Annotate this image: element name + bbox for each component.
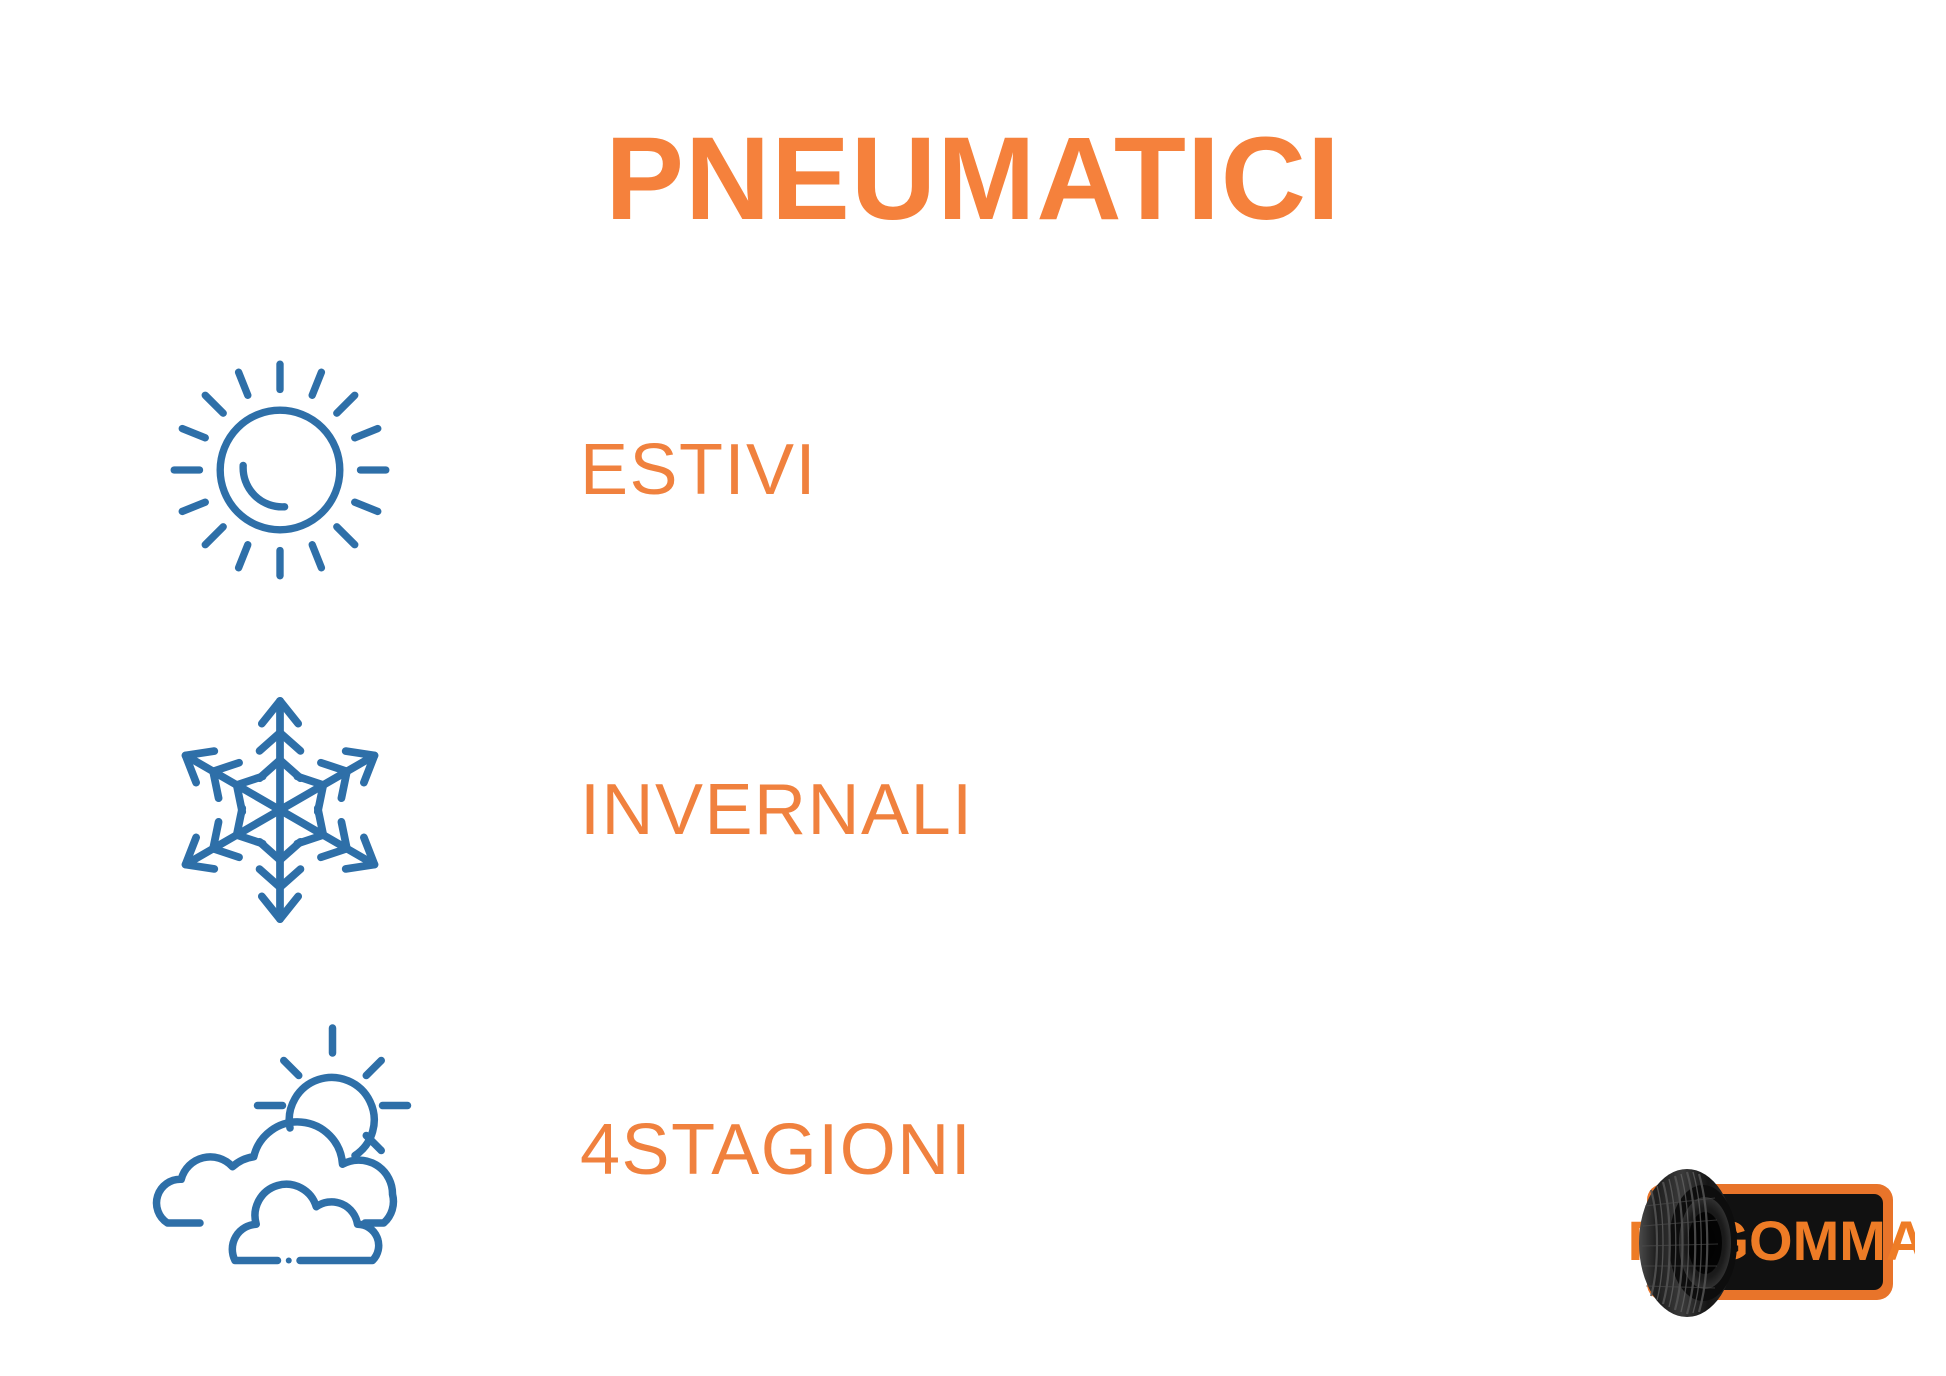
tyre-type-row-invernali: INVERNALI bbox=[0, 660, 1500, 960]
tyre-type-label-invernali: INVERNALI bbox=[580, 774, 974, 846]
tyre-type-row-estivi: ESTIVI bbox=[0, 320, 1500, 620]
tyre-type-label-4stagioni: 4STAGIONI bbox=[580, 1114, 972, 1186]
poster-canvas: PNEUMATICI bbox=[0, 0, 1946, 1376]
tyre-type-label-estivi: ESTIVI bbox=[580, 434, 817, 506]
4stagioni-label-cell: 4STAGIONI bbox=[560, 1114, 1500, 1186]
regomma-logo: REGOMMA bbox=[1625, 1140, 1915, 1355]
page-title: PNEUMATICI bbox=[0, 118, 1946, 242]
sun-icon bbox=[165, 355, 395, 585]
sun-behind-clouds-icon bbox=[135, 1023, 425, 1278]
sun-behind-clouds-icon-cell bbox=[0, 1000, 560, 1300]
sun-icon-cell bbox=[0, 320, 560, 620]
estivi-label-cell: ESTIVI bbox=[560, 434, 1500, 506]
invernali-label-cell: INVERNALI bbox=[560, 774, 1500, 846]
tyre-type-row-4stagioni: 4STAGIONI bbox=[0, 1000, 1500, 1300]
snowflake-icon bbox=[165, 685, 395, 935]
snowflake-icon-cell bbox=[0, 660, 560, 960]
